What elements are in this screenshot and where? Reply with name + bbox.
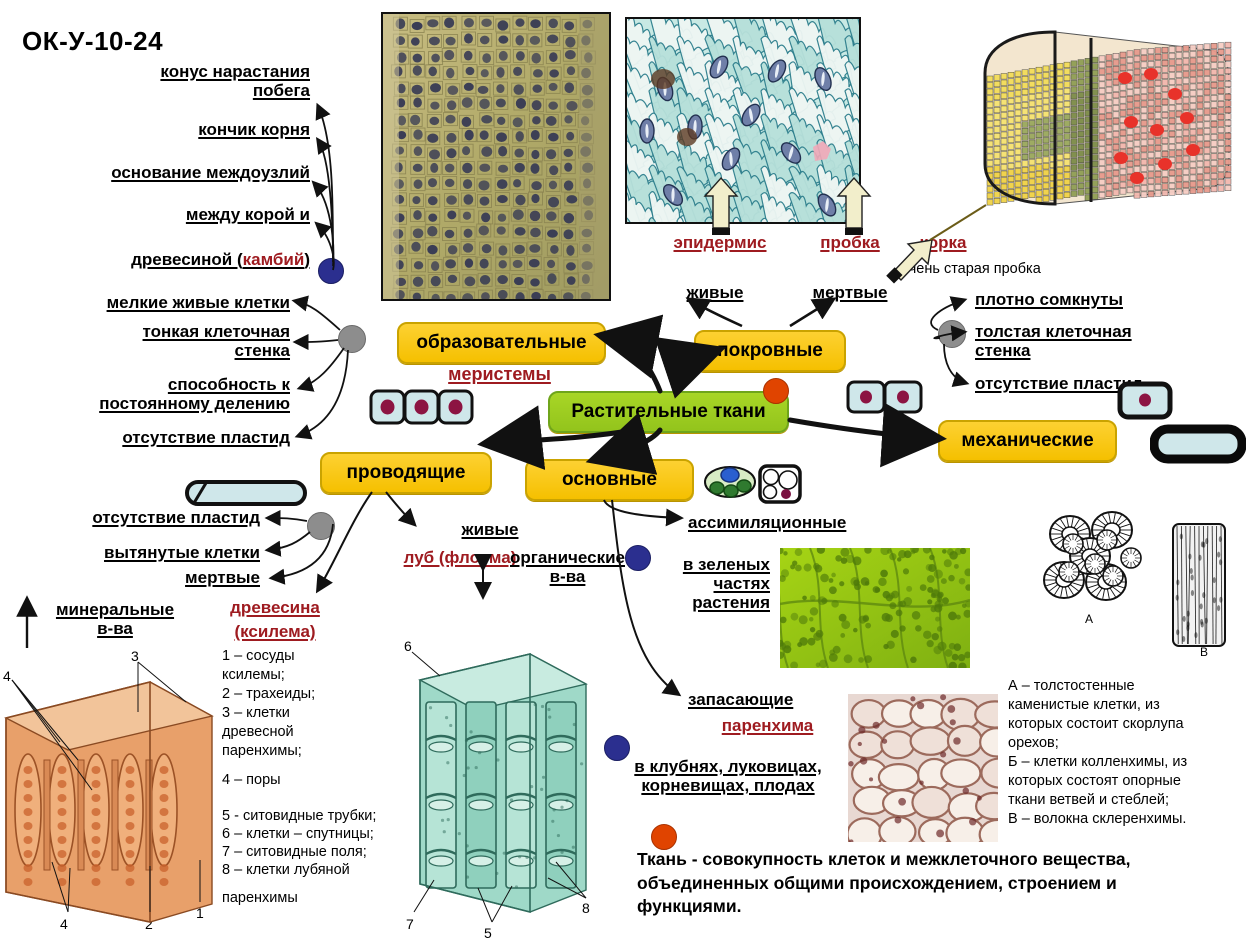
box-ground[interactable]: основные xyxy=(525,459,694,501)
mechanical-legend-line-4: орехов; xyxy=(1008,735,1248,752)
xylem-illustration xyxy=(0,660,215,925)
label-meristem-feature-thin-wall: тонкая клеточная стенка xyxy=(40,322,290,360)
label-root-tip: кончик корня xyxy=(70,120,310,139)
accent-dot-center xyxy=(763,378,789,404)
ground-cells-schematic xyxy=(703,458,803,506)
label-mineral-substances: минеральные в-ва xyxy=(35,600,195,638)
label-cambium-line1: между корой и xyxy=(70,205,310,224)
box-conducting-label: проводящие xyxy=(347,462,466,484)
mechanical-legend-line-6: которых состоят опорные xyxy=(1008,773,1248,790)
label-meristem-feature-no-plastids: отсутствие пластид xyxy=(40,428,290,447)
mechanical-legend-line-3: которых состоит скорлупа xyxy=(1008,716,1248,733)
label-internode-base: основание междоузлий xyxy=(46,163,310,182)
xylem-legend-line-4: 3 – клетки xyxy=(222,705,347,722)
page-title: ОК-У-10-24 xyxy=(22,26,163,57)
label-conducting-elongated: вытянутые клетки xyxy=(15,543,260,562)
xylem-legend-line-2: ксилемы; xyxy=(222,667,347,684)
phloem-legend-line-7: 7 – ситовидные поля; xyxy=(222,844,397,861)
label-conducting-dead: мертвые xyxy=(15,568,260,587)
bullet-dot-definition xyxy=(651,824,677,850)
mechanical-fiber-schematic xyxy=(1150,423,1246,465)
label-dermal-tight: плотно сомкнуты xyxy=(975,290,1245,309)
bullet-dot-storage xyxy=(604,735,630,761)
bark-cork-illustration xyxy=(925,18,1235,218)
tissue-definition: Ткань - совокупность клеток и межклеточн… xyxy=(637,848,1197,919)
xylem-legend-line-6: паренхимы; xyxy=(222,743,347,760)
label-phloem-alive: живые xyxy=(420,520,560,539)
label-dermal-thick-wall: толстая клеточная стенка xyxy=(975,322,1245,360)
label-epidermis: эпидермис xyxy=(655,233,785,252)
box-conducting[interactable]: проводящие xyxy=(320,452,492,494)
phloem-legend-tail: паренхимы xyxy=(222,890,397,907)
label-meristem-term: меристемы xyxy=(397,364,602,384)
phloem-legend-line-8: 8 – клетки лубяной xyxy=(222,862,397,879)
sclerenchyma-illustration xyxy=(1165,520,1235,650)
phloem-legend-line-5: 5 - ситовидные трубки; xyxy=(222,808,397,825)
mechanical-legend-line-5: Б – клетки колленхимы, из xyxy=(1008,754,1248,771)
dermal-single-cell-schematic xyxy=(1116,378,1176,422)
xylem-legend-line-3: 2 – трахеиды; xyxy=(222,686,347,703)
box-mechanical-label: механические xyxy=(961,430,1093,452)
box-mechanical[interactable]: механические xyxy=(938,420,1117,462)
cambium-suffix: ) xyxy=(304,250,310,269)
phloem-legend-line-6: 6 – клетки – спутницы; xyxy=(222,826,397,843)
xylem-legend-line-1: 1 – сосуды xyxy=(222,648,347,665)
label-xylem-wood: древесина xyxy=(205,598,345,617)
label-cork: пробка xyxy=(795,233,905,252)
box-meristem[interactable]: образовательные xyxy=(397,322,606,364)
box-center-label: Растительные ткани xyxy=(571,401,765,423)
label-dermal-dead: мертвые xyxy=(785,283,915,302)
label-dermal-no-plastids: отсутствие пластид xyxy=(975,374,1245,393)
label-storage-parenchyma: паренхима xyxy=(680,716,855,735)
bullet-dot-meristem-locations xyxy=(318,258,344,284)
epidermis-micrograph xyxy=(625,17,861,224)
mechanical-legend-line-8: В – волокна склеренхимы. xyxy=(1008,811,1248,828)
label-assimilation: ассимиляционные xyxy=(688,513,948,532)
collenchyma-illustration xyxy=(1055,528,1145,588)
label-organic-substances: органические в-ва xyxy=(505,548,630,586)
label-bark-note: очень старая пробка xyxy=(901,261,1111,278)
hub-dot-meristem-features xyxy=(338,325,366,353)
label-meristem-feature-division: способность к постоянному делению xyxy=(22,375,290,413)
label-xylem-term: (ксилема) xyxy=(205,622,345,641)
label-storage-where: в клубнях, луковицах, корневищах, плодах xyxy=(598,757,858,795)
box-center-plant-tissues[interactable]: Растительные ткани xyxy=(548,391,789,433)
conducting-cell-schematic xyxy=(182,473,310,513)
dermal-cells-schematic xyxy=(845,375,925,419)
phloem-illustration xyxy=(410,640,595,920)
label-bark: корка xyxy=(898,233,988,252)
phloem-number-5: 5 xyxy=(484,925,492,942)
meristem-cells-schematic xyxy=(368,385,478,429)
box-dermal-label: покровные xyxy=(717,340,823,362)
box-ground-label: основные xyxy=(562,469,657,491)
label-assimilation-where: в зеленых частях растения xyxy=(640,555,770,612)
cambium-term: камбий xyxy=(243,250,305,269)
cambium-prefix: древесиной ( xyxy=(131,250,242,269)
label-dermal-alive: живые xyxy=(650,283,780,302)
label-shoot-apex: конус нарастания побега xyxy=(70,62,310,100)
assimilation-micrograph xyxy=(780,548,970,668)
storage-micrograph xyxy=(848,694,998,842)
hub-dot-dermal-features xyxy=(938,320,966,348)
box-dermal[interactable]: покровные xyxy=(694,330,846,372)
xylem-legend-line-5: древесной xyxy=(222,724,347,741)
label-meristem-feature-small-cells: мелкие живые клетки xyxy=(40,293,290,312)
mechanical-legend-line-2: каменистые клетки, из xyxy=(1008,697,1248,714)
mechanical-legend-line-1: А – толстостенные xyxy=(1008,678,1248,695)
box-meristem-label: образовательные xyxy=(416,332,586,354)
meristem-micrograph xyxy=(381,12,611,301)
mechanical-legend-line-7: ткани ветвей и стеблей; xyxy=(1008,792,1248,809)
bullet-dot-assimilation xyxy=(625,545,651,571)
label-cambium-line2: древесиной (камбий) xyxy=(50,231,310,269)
hub-dot-conducting-features xyxy=(307,512,335,540)
xylem-legend-pores: 4 – поры xyxy=(222,772,347,789)
